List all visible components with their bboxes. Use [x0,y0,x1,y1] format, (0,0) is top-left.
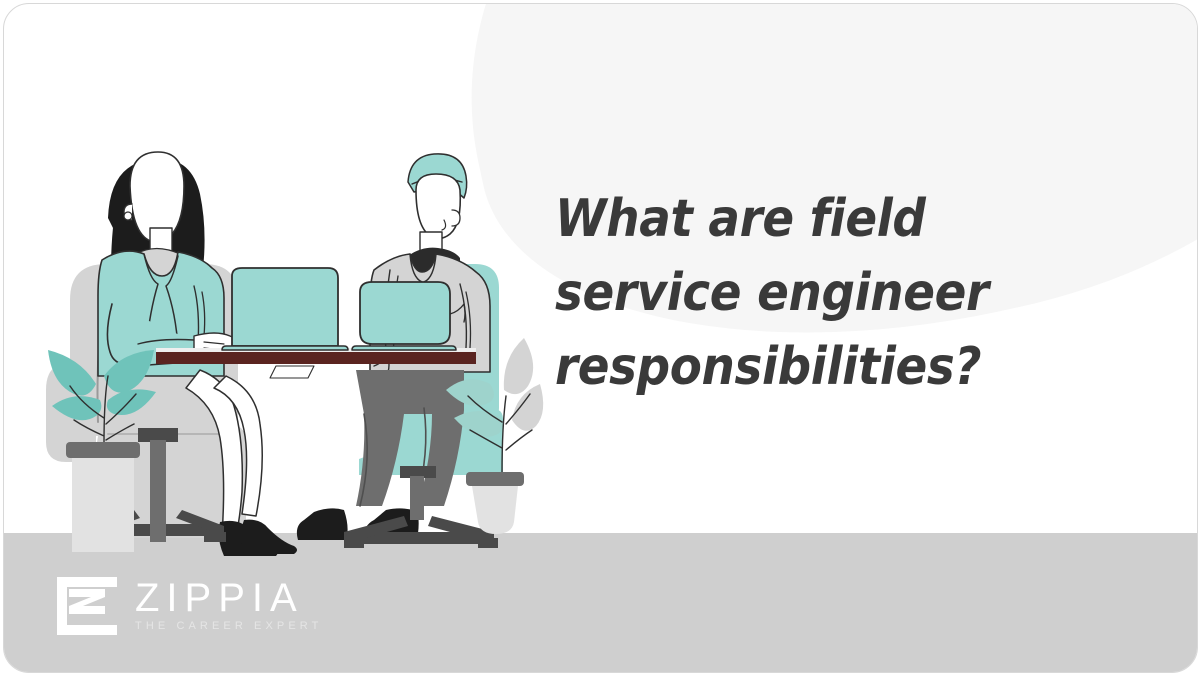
man-laptop [352,282,456,350]
desk-papers [270,366,314,378]
zippia-wordmark: ZIPPIA [135,578,322,618]
zippia-wordmark-group: ZIPPIA THE CAREER EXPERT [135,578,322,634]
zippia-z-mark [55,575,119,637]
page-title: What are field service engineer responsi… [555,182,1095,404]
article-hero-card: What are field service engineer responsi… [3,3,1198,673]
zippia-tagline: THE CAREER EXPERT [135,618,322,634]
hero-illustration [4,4,564,673]
woman-laptop [222,268,348,350]
zippia-logo[interactable]: ZIPPIA THE CAREER EXPERT [55,575,322,637]
